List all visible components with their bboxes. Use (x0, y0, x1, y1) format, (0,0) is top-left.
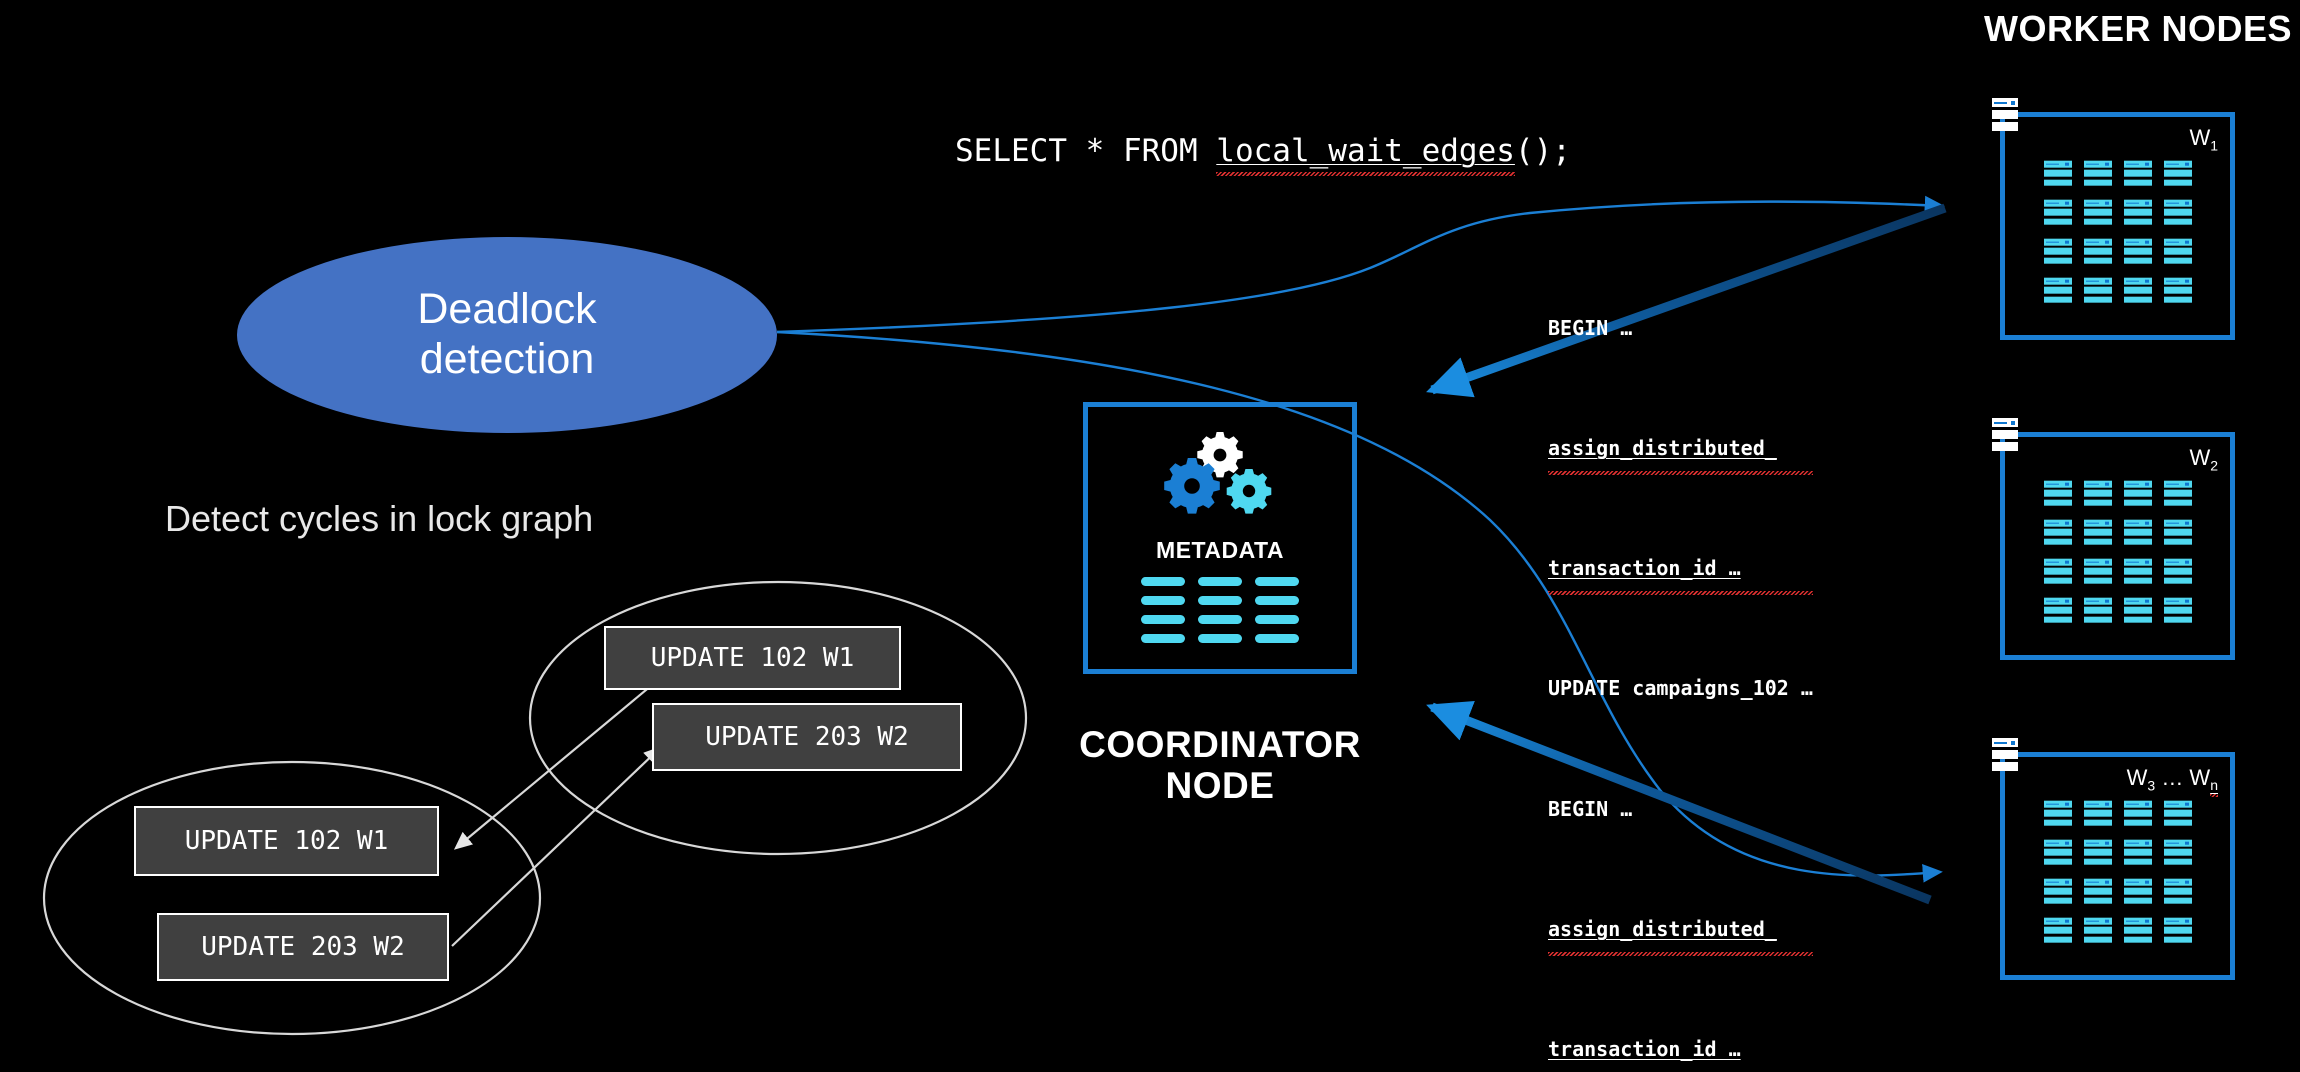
shard-icon (2124, 278, 2152, 303)
metadata-bar (1141, 634, 1185, 643)
shard-bar (2164, 598, 2192, 605)
shard-bar (2084, 170, 2112, 177)
shard-icon (2164, 481, 2192, 506)
shard-icon (2044, 559, 2072, 584)
worker-label-main: W (2189, 125, 2210, 150)
metadata-label: METADATA (1088, 537, 1352, 564)
shard-bar (2084, 577, 2112, 584)
shard-bar (2164, 218, 2192, 225)
shard-bar (2044, 568, 2072, 575)
lock-graph-node: UPDATE 203 W2 (652, 703, 962, 771)
shard-bar (2164, 616, 2192, 623)
shard-bar (2124, 879, 2152, 886)
shard-bar (2044, 239, 2072, 246)
deadlock-detection-ellipse: Deadlock detection (237, 237, 777, 433)
worker-node-2-label: W2 (2189, 445, 2218, 473)
sql-function-name: local_wait_edges (1216, 133, 1515, 169)
worker-nodes-title: WORKER NODES (1984, 8, 2292, 50)
shard-grid (2044, 801, 2192, 943)
txn-line: BEGIN … (1548, 789, 1813, 829)
shard-bar (2124, 888, 2152, 895)
shard-bar (2164, 819, 2192, 826)
shard-bar (2124, 520, 2152, 527)
worker-label-tail-sub: n (2210, 777, 2218, 793)
shard-bar (2084, 819, 2112, 826)
lock-graph-node: UPDATE 203 W2 (157, 913, 449, 981)
shard-bar (2044, 200, 2072, 207)
shard-bar (2124, 296, 2152, 303)
metadata-bar (1198, 634, 1242, 643)
shard-bar (2044, 296, 2072, 303)
shard-bar (2044, 538, 2072, 545)
shard-bar (2124, 179, 2152, 186)
shard-bar (2044, 278, 2072, 285)
shard-bar (2164, 888, 2192, 895)
shard-icon (2084, 239, 2112, 264)
shard-icon (2164, 801, 2192, 826)
shard-icon (2124, 239, 2152, 264)
shard-bar (2084, 520, 2112, 527)
metadata-bar (1255, 634, 1299, 643)
shard-bar (2044, 287, 2072, 294)
shard-icon (2044, 879, 2072, 904)
shard-bar (2124, 257, 2152, 264)
shard-icon (2084, 879, 2112, 904)
shard-bar (2044, 559, 2072, 566)
shard-icon (2044, 801, 2072, 826)
shard-icon (2124, 520, 2152, 545)
shard-bar (2084, 278, 2112, 285)
shard-bar (2044, 897, 2072, 904)
shard-bar (2164, 840, 2192, 847)
shard-icon (2164, 840, 2192, 865)
txn-line: BEGIN … (1548, 308, 1813, 348)
worker-node-1: W1 (2000, 112, 2235, 340)
shard-bar (2124, 490, 2152, 497)
shard-bar (2124, 810, 2152, 817)
shard-bar (2084, 616, 2112, 623)
shard-icon (2164, 559, 2192, 584)
shard-bar (2084, 200, 2112, 207)
shard-bar (2164, 161, 2192, 168)
shard-bar (2084, 888, 2112, 895)
shard-bar (2164, 858, 2192, 865)
shard-bar (2164, 936, 2192, 943)
shard-bar (2164, 918, 2192, 925)
badge-bar (1992, 442, 2018, 451)
shard-icon (2044, 840, 2072, 865)
shard-bar (2084, 568, 2112, 575)
shard-bar (2124, 598, 2152, 605)
shard-bar (2124, 218, 2152, 225)
worker-node-3-label: W3 … Wn (2127, 765, 2218, 793)
badge-bar (1992, 750, 2018, 759)
metadata-bar (1198, 596, 1242, 605)
shard-bar (2084, 559, 2112, 566)
shard-icon (2164, 879, 2192, 904)
shard-bar (2124, 559, 2152, 566)
badge-bar (1992, 738, 2018, 747)
txn-line: assign_distributed_ (1548, 428, 1813, 468)
shard-icon (2124, 559, 2152, 584)
shard-bar (2044, 616, 2072, 623)
shard-bar (2044, 607, 2072, 614)
shard-icon (2044, 278, 2072, 303)
shard-bar (2084, 936, 2112, 943)
metadata-bar (1198, 577, 1242, 586)
shard-bar (2044, 849, 2072, 856)
shard-grid (2044, 481, 2192, 623)
shard-bar (2164, 810, 2192, 817)
shard-bar (2044, 819, 2072, 826)
coordinator-node-box: METADATA (1083, 402, 1357, 674)
shard-icon (2044, 481, 2072, 506)
shard-bar (2124, 170, 2152, 177)
shard-bar (2044, 490, 2072, 497)
shard-bar (2044, 810, 2072, 817)
shard-icon (2084, 918, 2112, 943)
server-badge-icon (1992, 738, 2018, 771)
shard-bar (2084, 218, 2112, 225)
shard-icon (2084, 278, 2112, 303)
shard-bar (2164, 607, 2192, 614)
txn-line: UPDATE campaigns_102 … (1548, 668, 1813, 708)
shard-bar (2084, 538, 2112, 545)
sql-prefix: SELECT * FROM (955, 133, 1216, 169)
txn-line: assign_distributed_ (1548, 909, 1813, 949)
worker-label-main: W (2127, 765, 2148, 790)
server-badge-icon (1992, 98, 2018, 131)
shard-icon (2124, 481, 2152, 506)
shard-bar (2164, 248, 2192, 255)
shard-bar (2084, 810, 2112, 817)
transaction-block-102: BEGIN … assign_distributed_ transaction_… (1548, 228, 1813, 788)
shard-bar (2044, 520, 2072, 527)
shard-icon (2124, 918, 2152, 943)
shard-bar (2084, 209, 2112, 216)
badge-bar (1992, 762, 2018, 771)
metadata-bar (1141, 577, 1185, 586)
txn-line: transaction_id … (1548, 548, 1813, 588)
shard-bar (2084, 248, 2112, 255)
shard-bar (2164, 490, 2192, 497)
lock-graph-node: UPDATE 102 W1 (604, 626, 901, 690)
shard-bar (2084, 239, 2112, 246)
shard-bar (2124, 538, 2152, 545)
shard-bar (2124, 209, 2152, 216)
shard-bar (2124, 918, 2152, 925)
shard-icon (2044, 239, 2072, 264)
badge-bar (1992, 430, 2018, 439)
shard-bar (2084, 927, 2112, 934)
shard-bar (2044, 170, 2072, 177)
worker-label-sub: 2 (2210, 457, 2218, 473)
shard-icon (2124, 840, 2152, 865)
metadata-bar (1141, 596, 1185, 605)
shard-bar (2124, 161, 2152, 168)
shard-icon (2164, 598, 2192, 623)
shard-bar (2084, 840, 2112, 847)
shard-icon (2044, 200, 2072, 225)
diagram-canvas: WORKER NODES COORDINATOR NODE Deadlock d… (0, 0, 2300, 1072)
metadata-bar-grid (1141, 577, 1299, 653)
shard-bar (2164, 481, 2192, 488)
shard-bar (2164, 257, 2192, 264)
shard-bar (2044, 927, 2072, 934)
shard-bar (2164, 239, 2192, 246)
gears-icon (1159, 431, 1281, 527)
shard-icon (2084, 801, 2112, 826)
shard-bar (2044, 257, 2072, 264)
shard-bar (2164, 209, 2192, 216)
shard-bar (2084, 897, 2112, 904)
shard-icon (2044, 161, 2072, 186)
shard-icon (2124, 801, 2152, 826)
worker-label-sub: 1 (2210, 137, 2218, 153)
shard-bar (2044, 577, 2072, 584)
shard-bar (2044, 598, 2072, 605)
sql-query-text: SELECT * FROM local_wait_edges(); (955, 133, 1571, 169)
metadata-bar (1255, 596, 1299, 605)
shard-bar (2164, 849, 2192, 856)
shard-bar (2084, 858, 2112, 865)
shard-bar (2124, 801, 2152, 808)
shard-bar (2084, 499, 2112, 506)
shard-bar (2044, 801, 2072, 808)
shard-bar (2124, 499, 2152, 506)
shard-icon (2164, 520, 2192, 545)
shard-bar (2164, 278, 2192, 285)
shard-bar (2044, 918, 2072, 925)
worker-node-3: W3 … Wn (2000, 752, 2235, 980)
shard-icon (2124, 598, 2152, 623)
shard-icon (2084, 481, 2112, 506)
shard-bar (2084, 879, 2112, 886)
shard-bar (2164, 927, 2192, 934)
deadlock-detection-label: Deadlock detection (417, 285, 596, 385)
shard-bar (2084, 849, 2112, 856)
shard-bar (2044, 248, 2072, 255)
shard-bar (2164, 538, 2192, 545)
shard-icon (2084, 559, 2112, 584)
shard-bar (2164, 529, 2192, 536)
shard-icon (2164, 918, 2192, 943)
shard-bar (2084, 801, 2112, 808)
shard-bar (2164, 897, 2192, 904)
shard-bar (2124, 819, 2152, 826)
shard-bar (2124, 616, 2152, 623)
shard-bar (2124, 897, 2152, 904)
shard-bar (2164, 559, 2192, 566)
shard-bar (2124, 200, 2152, 207)
shard-bar (2164, 170, 2192, 177)
shard-bar (2084, 296, 2112, 303)
shard-bar (2124, 607, 2152, 614)
shard-bar (2044, 529, 2072, 536)
shard-icon (2084, 520, 2112, 545)
metadata-bar (1255, 577, 1299, 586)
shard-bar (2084, 161, 2112, 168)
shard-bar (2084, 257, 2112, 264)
shard-bar (2124, 529, 2152, 536)
shard-bar (2124, 248, 2152, 255)
shard-bar (2164, 568, 2192, 575)
shard-bar (2164, 577, 2192, 584)
shard-icon (2044, 520, 2072, 545)
shard-bar (2044, 161, 2072, 168)
shard-icon (2084, 161, 2112, 186)
shard-bar (2164, 499, 2192, 506)
shard-icon (2084, 598, 2112, 623)
shard-bar (2124, 936, 2152, 943)
shard-bar (2044, 209, 2072, 216)
shard-bar (2124, 287, 2152, 294)
shard-icon (2124, 200, 2152, 225)
shard-icon (2164, 239, 2192, 264)
shard-bar (2044, 481, 2072, 488)
shard-icon (2164, 161, 2192, 186)
worker-node-2: W2 (2000, 432, 2235, 660)
shard-icon (2044, 918, 2072, 943)
shard-bar (2084, 529, 2112, 536)
shard-icon (2124, 879, 2152, 904)
shard-bar (2124, 849, 2152, 856)
shard-icon (2164, 200, 2192, 225)
shard-bar (2164, 287, 2192, 294)
shard-bar (2044, 179, 2072, 186)
shard-bar (2044, 936, 2072, 943)
shard-bar (2044, 888, 2072, 895)
shard-icon (2084, 200, 2112, 225)
badge-bar (1992, 122, 2018, 131)
shard-bar (2044, 840, 2072, 847)
shard-icon (2084, 840, 2112, 865)
badge-bar (1992, 98, 2018, 107)
shard-bar (2164, 200, 2192, 207)
shard-bar (2084, 607, 2112, 614)
shard-icon (2124, 161, 2152, 186)
shard-bar (2084, 179, 2112, 186)
coordinator-node-title: COORDINATOR NODE (1060, 724, 1380, 807)
shard-bar (2124, 840, 2152, 847)
shard-grid (2044, 161, 2192, 303)
worker-node-1-label: W1 (2189, 125, 2218, 153)
detect-cycles-caption: Detect cycles in lock graph (165, 498, 593, 540)
lock-graph-node: UPDATE 102 W1 (134, 806, 439, 876)
shard-bar (2164, 296, 2192, 303)
metadata-bar (1255, 615, 1299, 624)
shard-bar (2124, 927, 2152, 934)
shard-bar (2124, 239, 2152, 246)
shard-bar (2044, 499, 2072, 506)
server-badge-icon (1992, 418, 2018, 451)
shard-bar (2044, 879, 2072, 886)
metadata-bar (1198, 615, 1242, 624)
shard-bar (2124, 858, 2152, 865)
shard-bar (2124, 568, 2152, 575)
txn-line: transaction_id … (1548, 1029, 1813, 1069)
shard-bar (2164, 879, 2192, 886)
shard-icon (2044, 598, 2072, 623)
shard-bar (2044, 858, 2072, 865)
worker-label-tail: … W (2155, 765, 2210, 790)
shard-bar (2044, 218, 2072, 225)
worker-label-main: W (2189, 445, 2210, 470)
shard-bar (2084, 918, 2112, 925)
badge-bar (1992, 110, 2018, 119)
shard-bar (2164, 179, 2192, 186)
shard-bar (2084, 490, 2112, 497)
shard-bar (2124, 577, 2152, 584)
shard-bar (2084, 481, 2112, 488)
metadata-bar (1141, 615, 1185, 624)
transaction-block-203: BEGIN … assign_distributed_ transaction_… (1548, 709, 1813, 1072)
shard-bar (2164, 801, 2192, 808)
shard-bar (2124, 278, 2152, 285)
sql-suffix: (); (1515, 133, 1571, 169)
badge-bar (1992, 418, 2018, 427)
shard-bar (2164, 520, 2192, 527)
shard-bar (2124, 481, 2152, 488)
shard-bar (2084, 598, 2112, 605)
shard-bar (2084, 287, 2112, 294)
shard-icon (2164, 278, 2192, 303)
